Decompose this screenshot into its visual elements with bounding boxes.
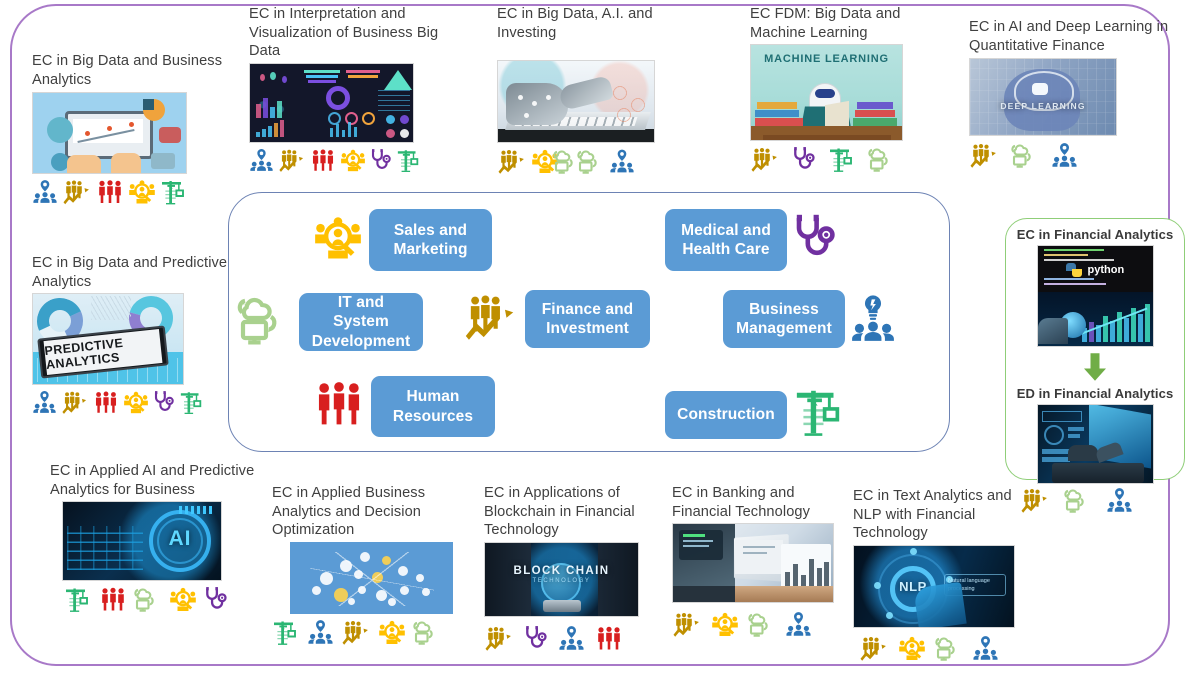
people-growth-icon [484, 625, 514, 652]
stethoscope-icon [153, 390, 175, 415]
financial-analytics-track-panel: EC in Financial Analytics python [1005, 218, 1185, 480]
category-medical-and-health-care[interactable]: Medical and Health Care [665, 209, 837, 271]
people-growth-icon [61, 390, 89, 415]
cloud-monitor-icon [134, 586, 162, 613]
three-people-icon [595, 625, 623, 652]
card-icon-row [672, 611, 852, 638]
category-label: Construction [665, 391, 787, 439]
card-icon-row [969, 142, 1179, 169]
search-people-icon [313, 215, 363, 266]
card-title: EC in Big Data, A.I. and Investing [497, 5, 697, 42]
card-icon-row [750, 146, 955, 173]
cloud-monitor-icon [1064, 487, 1092, 514]
stethoscope-icon [792, 146, 816, 173]
card-big-data-predictive-analytics[interactable]: EC in Big Data and Predictive Analytics … [32, 254, 232, 415]
three-people-icon [93, 390, 119, 415]
card-title: EC in AI and Deep Learning in Quantitati… [969, 18, 1179, 55]
category-construction[interactable]: Construction [665, 383, 847, 446]
people-growth-icon [497, 148, 527, 175]
card-blockchain-fintech[interactable]: EC in Applications of Blockchain in Fina… [484, 484, 664, 652]
people-growth-icon [278, 148, 306, 173]
financial-analytics-icon-row [1020, 487, 1133, 514]
cloud-monitor-icon [1011, 142, 1039, 169]
crane-icon [179, 390, 205, 415]
card-title: EC in Big Data and Predictive Analytics [32, 254, 232, 291]
stethoscope-icon [204, 586, 228, 613]
category-label: IT and System Development [299, 293, 423, 351]
people-growth-icon [859, 635, 889, 662]
stethoscope-icon [793, 211, 837, 270]
stethoscope-icon [524, 625, 548, 652]
team-location-icon [1106, 487, 1133, 514]
team-location-icon [32, 390, 57, 415]
three-people-icon [310, 148, 336, 173]
crane-icon [160, 179, 188, 205]
card-title: EC FDM: Big Data and Machine Learning [750, 5, 955, 42]
card-applied-business-analytics-decision[interactable]: EC in Applied Business Analytics and Dec… [272, 484, 457, 646]
card-thumbnail: AI [62, 501, 222, 581]
cloud-monitor-icon [868, 146, 896, 173]
search-people-icon [711, 611, 739, 638]
card-text-analytics-nlp[interactable]: EC in Text Analytics and NLP with Financ… [853, 487, 1033, 662]
category-it-and-system-development[interactable]: IT and System Development [237, 293, 423, 351]
team-location-icon [972, 635, 999, 662]
cloud-monitor-icon [237, 294, 293, 351]
crane-icon [793, 383, 847, 446]
category-label: Finance and Investment [525, 290, 650, 348]
category-label: Medical and Health Care [665, 209, 787, 271]
track-bottom-title: ED in Financial Analytics [1006, 386, 1184, 401]
crane-icon [272, 619, 300, 646]
team-location-icon [307, 619, 334, 646]
card-thumbnail [497, 60, 655, 143]
card-title: EC in Applications of Blockchain in Fina… [484, 484, 664, 540]
crane-icon [396, 148, 422, 173]
card-title: EC in Big Data and Business Analytics [32, 52, 232, 89]
search-people-icon [898, 635, 926, 662]
card-title: EC in Interpretation and Visualization o… [249, 5, 459, 61]
team-location-icon [249, 148, 274, 173]
card-icon-row [32, 179, 232, 205]
people-growth-icon [969, 142, 999, 169]
cloud-monitor-icon [413, 619, 441, 646]
track-arrow [1006, 352, 1184, 387]
team-location-icon [32, 179, 58, 205]
card-title: EC in Applied AI and Predictive Analytic… [50, 462, 255, 499]
people-growth-icon [1020, 487, 1050, 514]
card-thumbnail: BLOCK CHAIN TECHNOLOGY [484, 542, 639, 617]
card-title: EC in Text Analytics and NLP with Financ… [853, 487, 1033, 543]
people-growth-icon [341, 619, 371, 646]
search-people-icon [128, 179, 156, 205]
people-growth-icon [62, 179, 92, 205]
card-banking-fintech[interactable]: EC in Banking and Financial Technology [672, 484, 852, 638]
card-thumbnail [32, 92, 187, 174]
idea-team-icon [851, 292, 895, 347]
search-people-icon [378, 619, 406, 646]
people-growth-icon [672, 611, 702, 638]
thumbnail-caption: MACHINE LEARNING [751, 53, 902, 67]
team-location-icon [609, 148, 635, 175]
search-people-icon [123, 390, 149, 415]
card-fdm-big-data-ml[interactable]: EC FDM: Big Data and Machine Learning MA… [750, 5, 955, 173]
category-label: Business Management [723, 290, 845, 348]
team-location-icon [785, 611, 812, 638]
card-thumbnail: PREDICTIVE ANALYTICS [32, 293, 184, 385]
cloud-monitor-icon [748, 611, 776, 638]
category-label: Sales and Marketing [369, 209, 492, 271]
people-growth-icon [463, 291, 519, 348]
search-people-icon [340, 148, 366, 173]
category-sales-and-marketing[interactable]: Sales and Marketing [313, 209, 492, 271]
card-title: EC in Banking and Financial Technology [672, 484, 852, 521]
card-thumbnail: NLP Natural languageprocessing [853, 545, 1015, 628]
card-big-data-business-analytics[interactable]: EC in Big Data and Business Analytics [32, 52, 232, 205]
card-icon-row [32, 390, 232, 415]
card-thumbnail [290, 542, 453, 614]
card-thumbnail [249, 63, 414, 143]
card-icon-row [272, 619, 457, 646]
card-big-data-ai-investing[interactable]: EC in Big Data, A.I. and Investing [497, 5, 697, 175]
crane-icon [64, 586, 92, 613]
card-title: EC in Applied Business Analytics and Dec… [272, 484, 457, 540]
three-people-icon [99, 586, 127, 613]
card-icon-row [859, 635, 1033, 662]
three-people-icon [96, 179, 124, 205]
category-business-management[interactable]: Business Management [723, 290, 895, 348]
category-finance-and-investment[interactable]: Finance and Investment [463, 290, 650, 348]
search-people-icon [169, 586, 197, 613]
track-top-title: EC in Financial Analytics [1006, 227, 1184, 242]
occupational-sectors-panel: Sales and Marketing Medical and Health C… [228, 192, 950, 452]
card-interpretation-visualization[interactable]: EC in Interpretation and Visualization o… [249, 5, 459, 173]
people-growth-icon [750, 146, 780, 173]
team-location-icon [558, 625, 585, 652]
card-icon-row [497, 148, 697, 175]
card-icon-row [249, 148, 459, 173]
card-thumbnail [672, 523, 834, 603]
card-ai-deep-learning-quant[interactable]: EC in AI and Deep Learning in Quantitati… [969, 18, 1179, 169]
cloud-monitor-icon [577, 148, 605, 175]
category-human-resources[interactable]: Human Resources [313, 376, 495, 437]
card-icon-row [64, 586, 255, 613]
track-bottom-thumbnail [1037, 404, 1154, 484]
three-people-icon [313, 377, 365, 436]
card-applied-ai-predictive-business[interactable]: EC in Applied AI and Predictive Analytic… [50, 462, 255, 613]
card-thumbnail: DEEP LEARNING [969, 58, 1117, 136]
team-location-icon [1051, 142, 1078, 169]
track-top-thumbnail: python [1037, 245, 1154, 347]
card-thumbnail: MACHINE LEARNING [750, 44, 903, 141]
card-icon-row [484, 625, 664, 652]
stethoscope-icon [370, 148, 392, 173]
cloud-monitor-icon [935, 635, 963, 662]
category-label: Human Resources [371, 376, 495, 437]
crane-icon [828, 146, 856, 173]
